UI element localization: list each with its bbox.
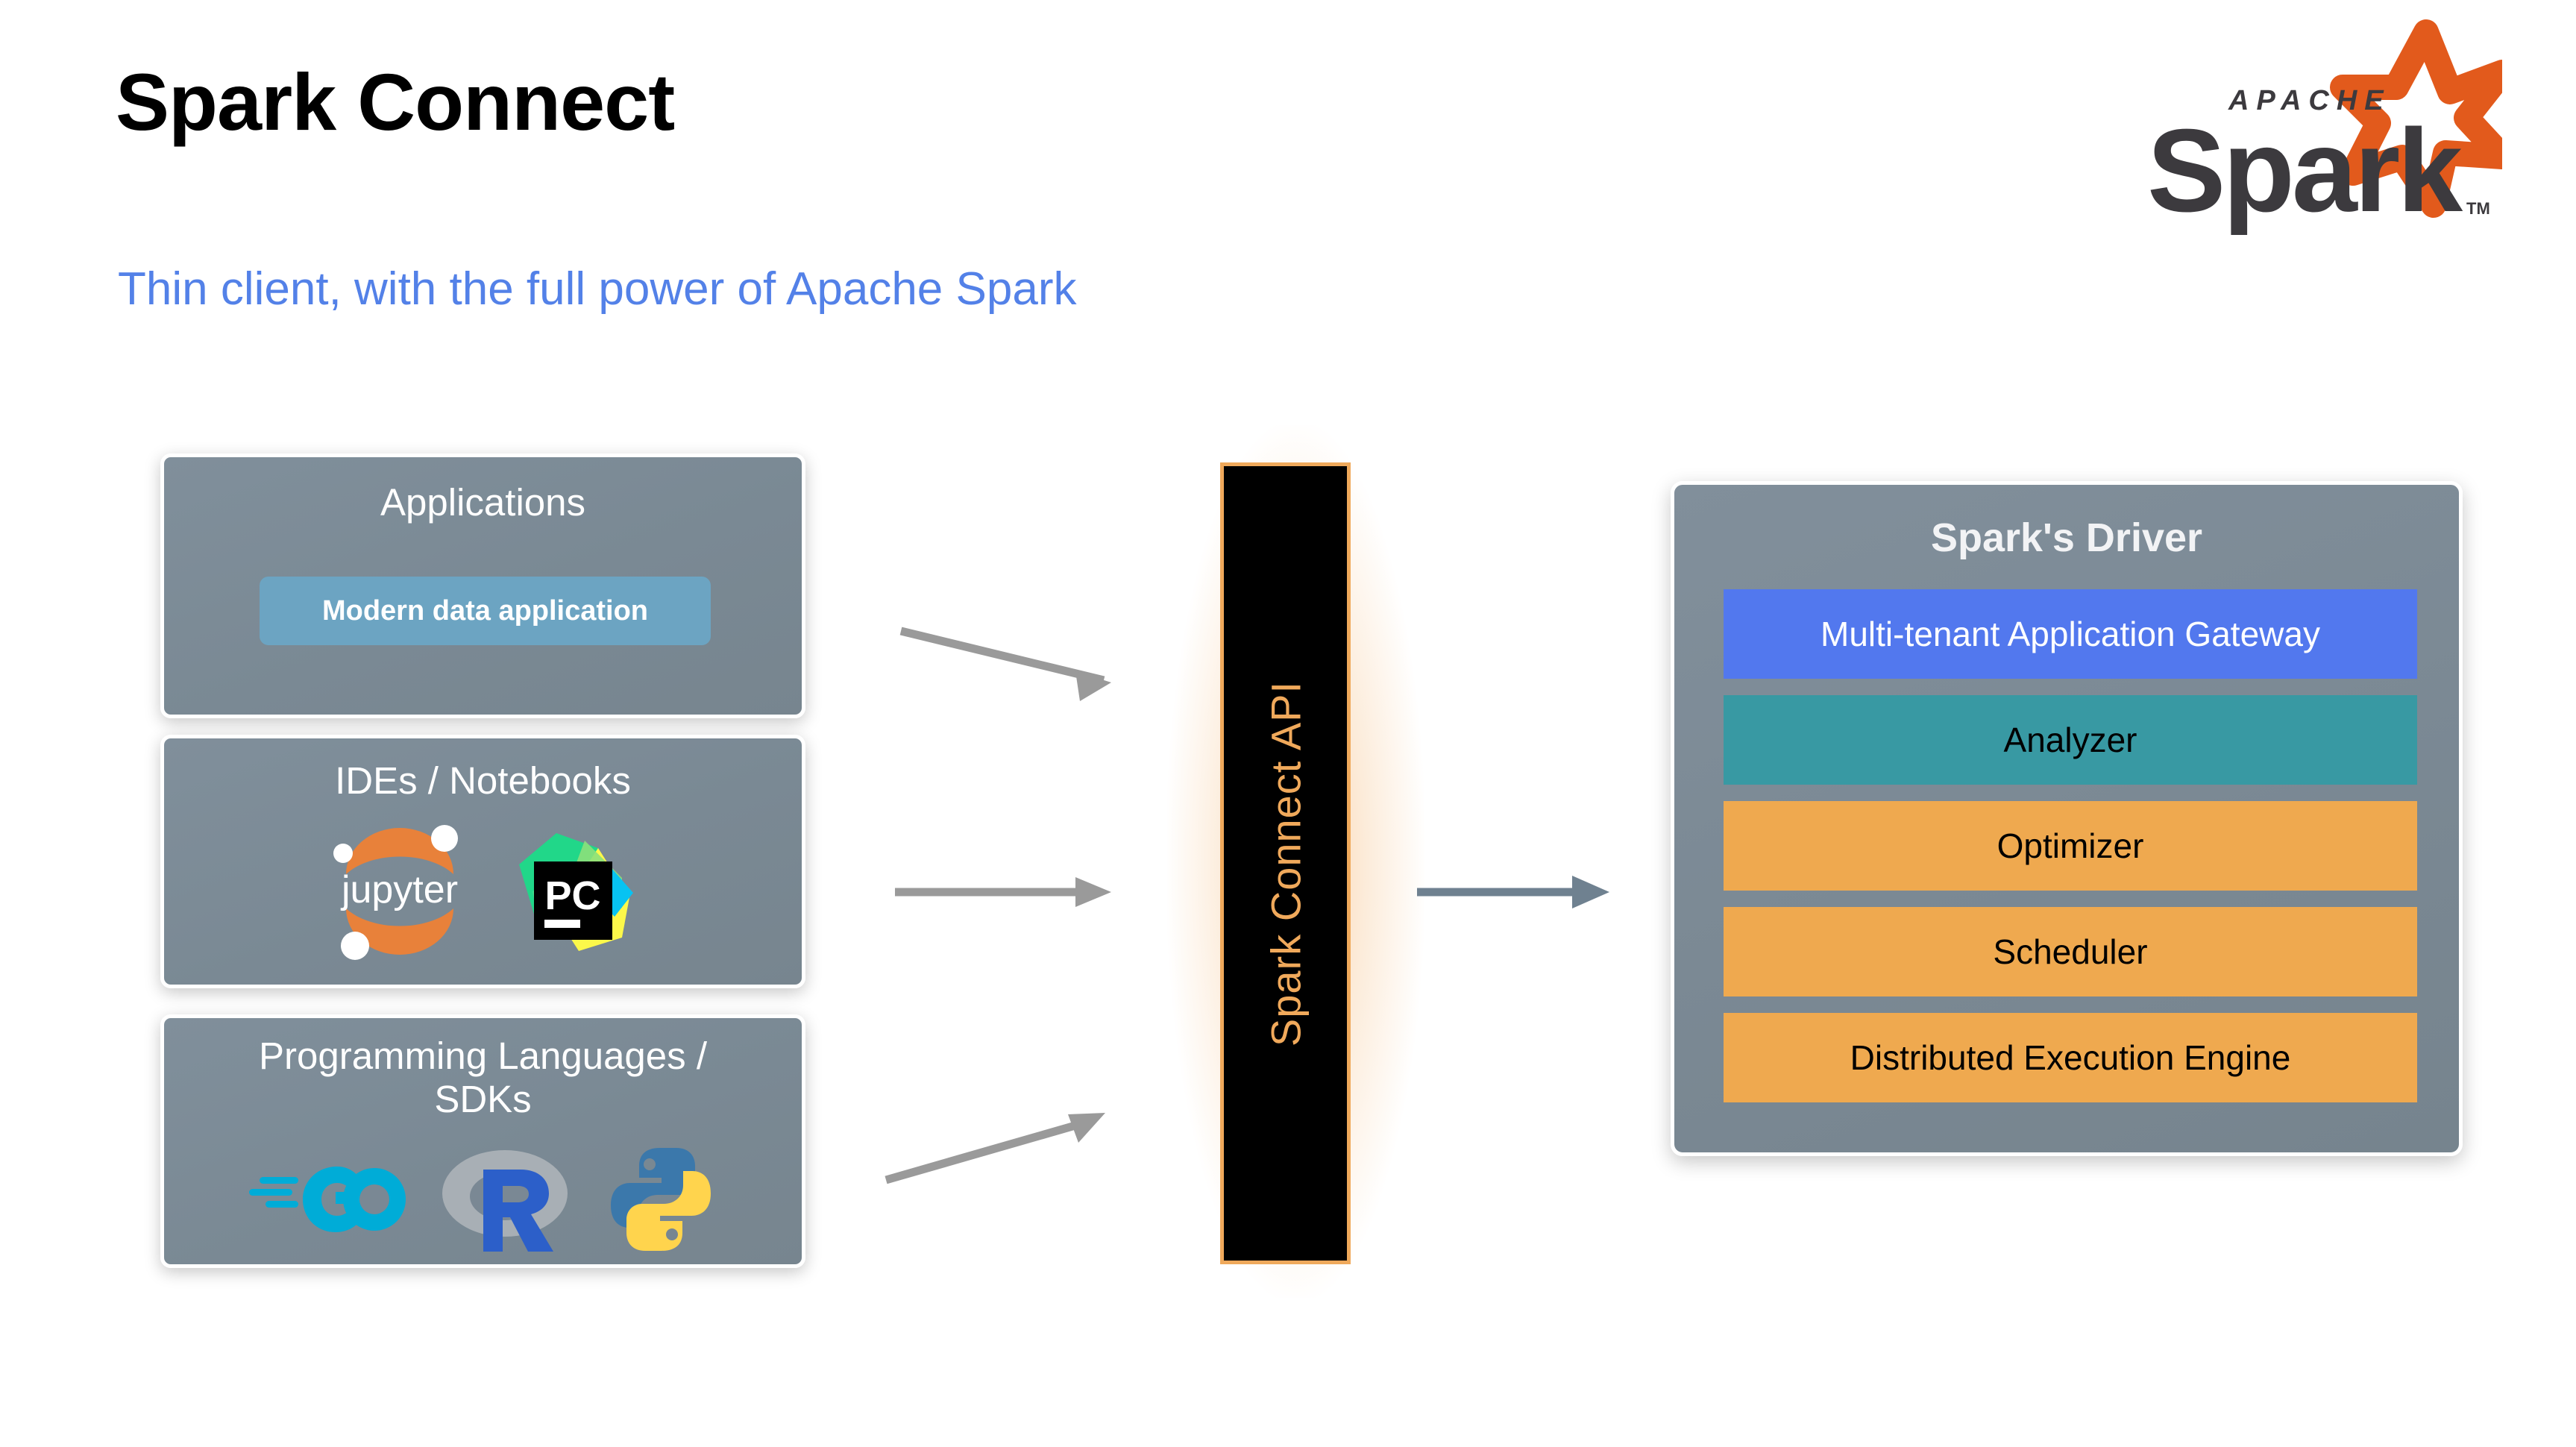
svg-text:TM: TM	[2466, 199, 2490, 218]
go-logo	[249, 1155, 406, 1244]
driver-bar-analyzer[interactable]: Analyzer	[1724, 695, 2417, 785]
driver-bar-multi-tenant-application-gateway[interactable]: Multi-tenant Application Gateway	[1724, 589, 2417, 679]
arrow-api-to-driver	[1410, 850, 1671, 940]
languages-title-line1: Programming Languages /	[259, 1035, 707, 1077]
driver-bar-scheduler[interactable]: Scheduler	[1724, 907, 2417, 996]
arrow-applications-to-api	[888, 612, 1320, 761]
card-ides-notebooks[interactable]: IDEs / Notebooks jupyter	[160, 735, 805, 988]
card-ides-notebooks-title: IDEs / Notebooks	[164, 759, 802, 803]
spark-driver-title: Spark's Driver	[1674, 515, 2459, 561]
modern-data-application-item[interactable]: Modern data application	[260, 577, 711, 645]
r-logo	[440, 1146, 571, 1254]
page-subtitle: Thin client, with the full power of Apac…	[118, 263, 1076, 316]
driver-bar-distributed-execution-engine[interactable]: Distributed Execution Engine	[1724, 1013, 2417, 1102]
language-logo-row	[164, 1143, 802, 1255]
card-programming-languages-title: Programming Languages / SDKs	[164, 1035, 802, 1120]
page-title: Spark Connect	[116, 58, 674, 147]
card-applications-title: Applications	[164, 481, 802, 524]
apache-spark-logo: APACHE Spark TM	[2129, 19, 2502, 235]
svg-text:PC: PC	[544, 873, 600, 918]
arrow-languages-to-api	[873, 1052, 1320, 1201]
svg-text:Spark: Spark	[2147, 105, 2463, 235]
arrow-ides-to-api	[888, 850, 1320, 940]
card-programming-languages[interactable]: Programming Languages / SDKs	[160, 1014, 805, 1268]
pycharm-logo: PC	[510, 826, 641, 956]
spark-driver-panel[interactable]: Spark's Driver Multi-tenant Application …	[1671, 481, 2463, 1156]
python-logo	[605, 1143, 717, 1255]
slide-canvas: Spark Connect Thin client, with the full…	[0, 0, 2576, 1447]
driver-bar-optimizer[interactable]: Optimizer	[1724, 801, 2417, 891]
svg-text:jupyter: jupyter	[340, 868, 458, 911]
jupyter-logo: jupyter	[325, 822, 474, 960]
card-applications[interactable]: Applications Modern data application	[160, 453, 805, 718]
ide-logo-row: jupyter PC	[164, 822, 802, 960]
languages-title-line2: SDKs	[434, 1078, 531, 1120]
